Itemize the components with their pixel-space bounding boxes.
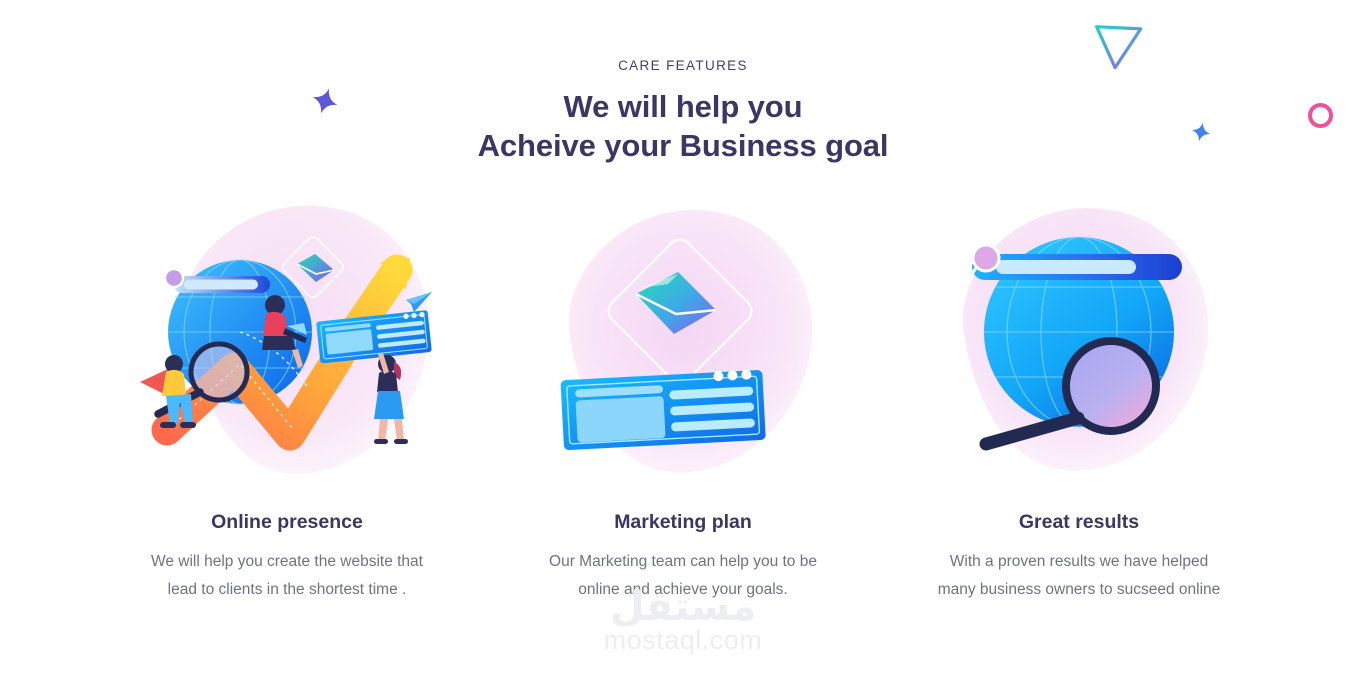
- feature-card-marketing-plan: Marketing plan Our Marketing team can he…: [485, 192, 881, 604]
- card-title: Online presence: [211, 510, 363, 535]
- marketing-plan-illustration: [518, 192, 848, 492]
- great-results-illustration: [914, 192, 1244, 492]
- card-body-line-1: Our Marketing team can help you to be: [549, 553, 817, 570]
- card-body-line-1: With a proven results we have helped: [950, 553, 1208, 570]
- headline-line-2: Acheive your Business goal: [0, 127, 1366, 165]
- page-root: CARE FEATURES We will help you Acheive y…: [0, 0, 1366, 673]
- card-body-line-2: online and achieve your goals.: [578, 581, 787, 598]
- card-title: Great results: [1019, 510, 1139, 535]
- page-title: We will help you Acheive your Business g…: [0, 88, 1366, 165]
- feature-cards: Online presence We will help you create …: [0, 192, 1366, 604]
- card-body: Our Marketing team can help you to be on…: [518, 548, 848, 603]
- headline-line-1: We will help you: [0, 88, 1366, 126]
- section-heading: CARE FEATURES We will help you Acheive y…: [0, 58, 1366, 165]
- card-body: We will help you create the website that…: [122, 548, 452, 603]
- online-presence-illustration: [122, 192, 452, 492]
- feature-card-online-presence: Online presence We will help you create …: [89, 192, 485, 604]
- card-body-line-1: We will help you create the website that: [151, 553, 423, 570]
- card-body-line-2: lead to clients in the shortest time .: [168, 581, 407, 598]
- card-body: With a proven results we have helped man…: [914, 548, 1244, 603]
- watermark-url: mostaql.com: [0, 626, 1366, 656]
- card-title: Marketing plan: [614, 510, 752, 535]
- eyebrow-label: CARE FEATURES: [0, 58, 1366, 74]
- card-body-line-2: many business owners to sucseed online: [938, 581, 1221, 598]
- feature-card-great-results: Great results With a proven results we h…: [881, 192, 1277, 604]
